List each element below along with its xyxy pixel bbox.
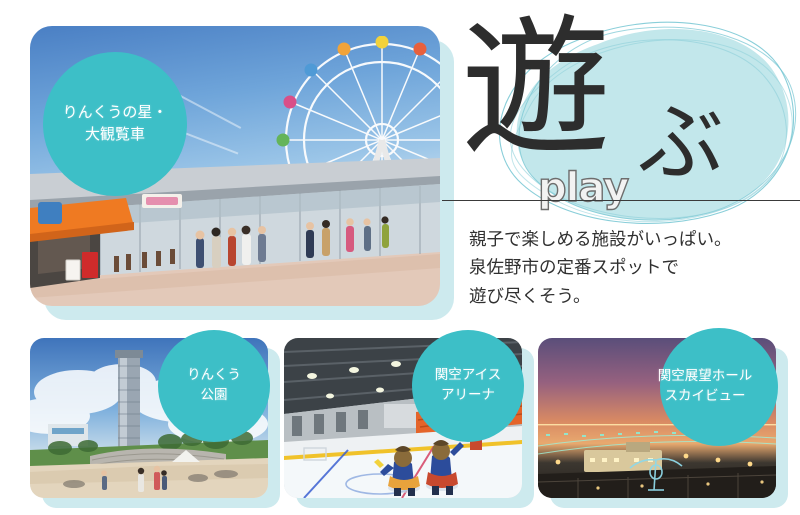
- hero-caption-badge[interactable]: りんくうの星・ 大観覧車: [43, 52, 187, 196]
- hero-caption-line-1: りんくうの星・: [63, 102, 168, 124]
- title-block: 遊 ぶ play 親子で楽しめる施設がいっぱい。 泉佐野市の定番スポットで 遊び…: [455, 14, 800, 314]
- title-kanji: 遊: [461, 14, 611, 164]
- thumb-caption-line-1: 関空展望ホール: [658, 367, 753, 387]
- hero-caption-line-2: 大観覧車: [85, 124, 145, 146]
- thumb-caption-badge-rinku-park[interactable]: りんくう 公園: [158, 330, 270, 442]
- thumb-caption-line-1: 関空アイス: [435, 366, 501, 386]
- thumb-caption-badge-sky-view[interactable]: 関空展望ホール スカイビュー: [660, 328, 778, 446]
- title-romaji: play: [538, 165, 628, 211]
- title-divider: [442, 200, 800, 201]
- thumb-caption-line-1: りんくう: [187, 366, 241, 386]
- lead-paragraph: 親子で楽しめる施設がいっぱい。 泉佐野市の定番スポットで 遊び尽くそう。: [469, 226, 799, 311]
- lead-line-1: 親子で楽しめる施設がいっぱい。: [469, 226, 799, 254]
- thumb-caption-line-2: スカイビュー: [665, 387, 746, 407]
- page-root: りんくうの星・ 大観覧車 遊 ぶ play 親子で楽しめる施設がいっぱい。 泉佐…: [0, 0, 800, 515]
- lead-line-3: 遊び尽くそう。: [469, 283, 799, 311]
- thumb-caption-badge-ice-arena[interactable]: 関空アイス アリーナ: [412, 330, 524, 442]
- lead-line-2: 泉佐野市の定番スポットで: [469, 254, 799, 282]
- thumb-caption-line-2: アリーナ: [441, 386, 495, 406]
- thumb-caption-line-2: 公園: [201, 386, 228, 406]
- title-kana: ぶ: [638, 100, 724, 186]
